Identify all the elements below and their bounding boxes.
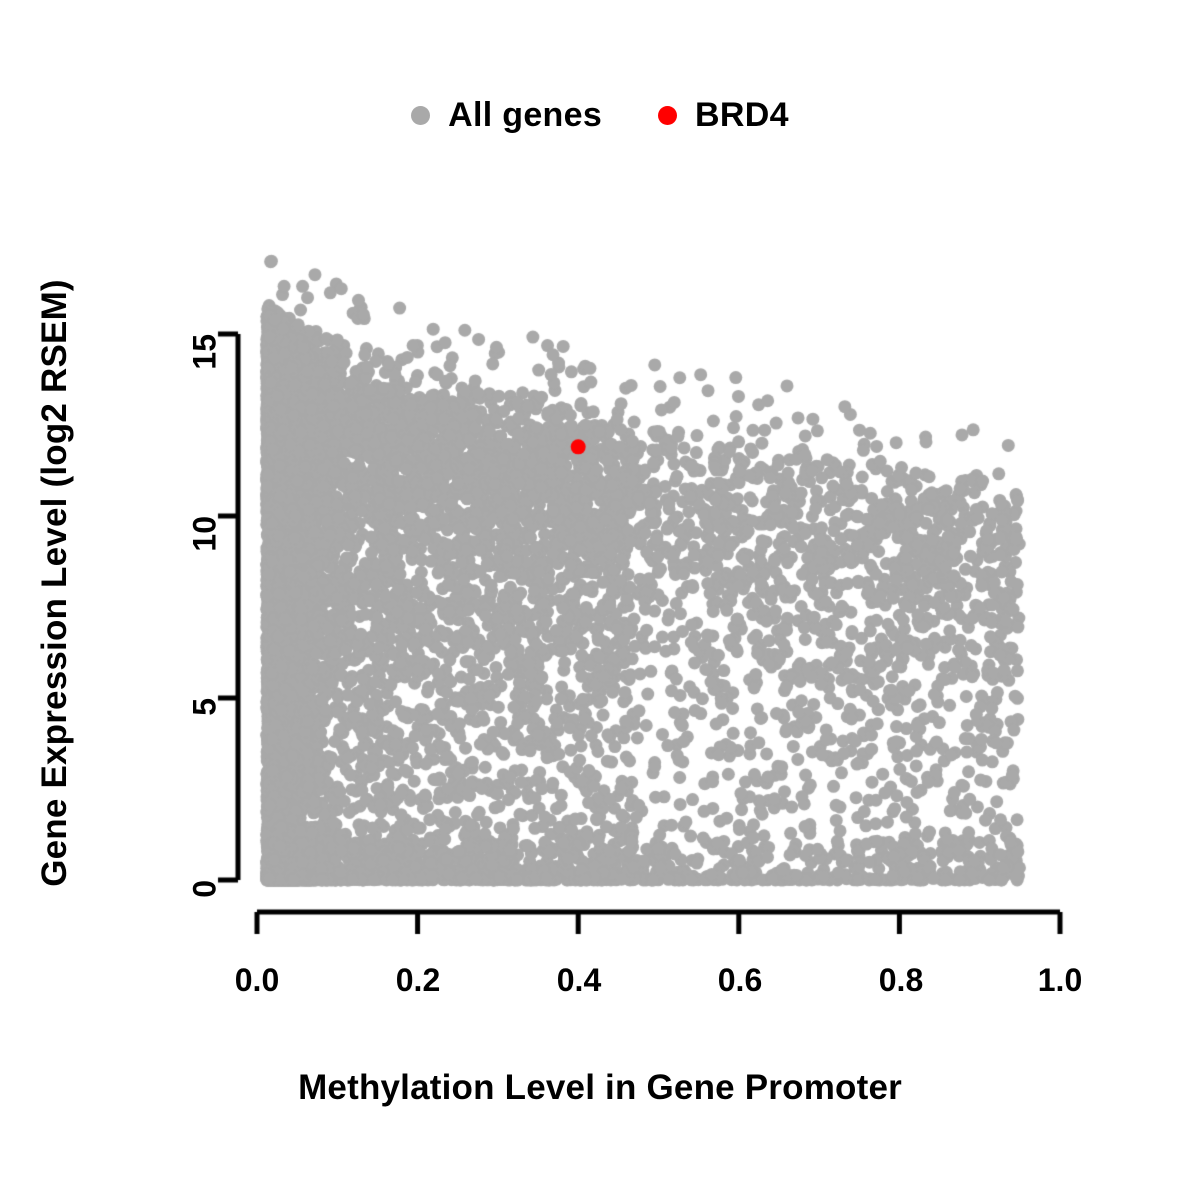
legend-label-all-genes: All genes	[448, 96, 602, 135]
y-tick-label-0: 0	[187, 880, 224, 898]
x-tick-label-0-4: 0.4	[557, 962, 601, 999]
y-tick-label-5: 5	[187, 698, 224, 716]
x-tick-label-0-0: 0.0	[235, 962, 279, 999]
legend-item-all-genes: All genes	[411, 96, 602, 135]
y-tick-label-15: 15	[187, 334, 224, 370]
y-axis-title: Gene Expression Level (log2 RSEM)	[35, 0, 75, 1183]
scatter-plot-canvas	[0, 0, 1200, 1200]
x-tick-label-0-8: 0.8	[879, 962, 923, 999]
legend-label-brd4: BRD4	[695, 96, 789, 135]
x-tick-label-1-0: 1.0	[1038, 962, 1082, 999]
scatter-plot-figure: All genes BRD4 15 10 5 0 0.0 0.2 0.4 0.6…	[0, 0, 1200, 1200]
x-tick-label-0-6: 0.6	[718, 962, 762, 999]
x-axis-title: Methylation Level in Gene Promoter	[0, 1068, 1200, 1108]
y-tick-label-10: 10	[187, 516, 224, 552]
x-tick-label-0-2: 0.2	[396, 962, 440, 999]
red-dot-icon	[658, 106, 677, 125]
gray-dot-icon	[411, 106, 430, 125]
chart-legend: All genes BRD4	[0, 86, 1200, 144]
legend-item-brd4: BRD4	[658, 96, 789, 135]
